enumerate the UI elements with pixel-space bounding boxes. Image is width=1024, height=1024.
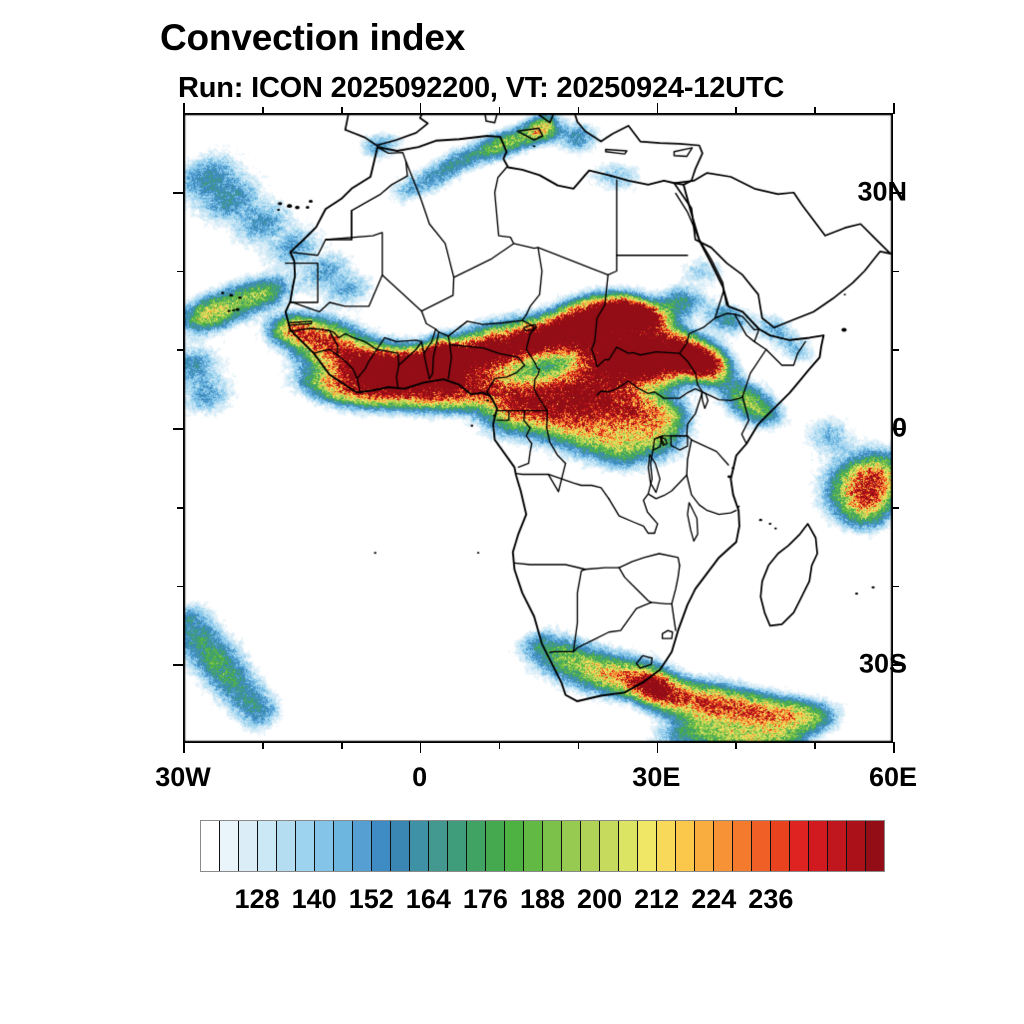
colorbar-cell: [809, 821, 828, 871]
y-axis-minor-tick: [892, 271, 899, 273]
colorbar-cell: [847, 821, 866, 871]
colorbar-tick-label: 224: [691, 884, 736, 915]
y-axis-minor-tick: [892, 507, 899, 509]
x-axis-label: 0: [412, 762, 427, 793]
colorbar-cell: [220, 821, 239, 871]
y-axis-minor-tick: [892, 586, 899, 588]
colorbar-cell: [733, 821, 752, 871]
colorbar-cell: [790, 821, 809, 871]
colorbar-cell: [391, 821, 410, 871]
colorbar-tick-label: 164: [406, 884, 451, 915]
y-axis-minor-tick: [177, 507, 184, 509]
colorbar-cell: [315, 821, 334, 871]
colorbar-cell: [448, 821, 467, 871]
y-axis-major-tick: [173, 664, 184, 666]
x-axis-major-tick: [893, 742, 895, 753]
y-axis-minor-tick: [177, 586, 184, 588]
colorbar-cell: [866, 821, 884, 871]
colorbar-cell: [277, 821, 296, 871]
x-axis-minor-tick: [499, 107, 501, 114]
run-valid-time-subtitle: Run: ICON 2025092200, VT: 20250924-12UTC: [178, 72, 784, 105]
convection-index-field: [184, 114, 892, 742]
colorbar-cell: [676, 821, 695, 871]
colorbar-cell: [752, 821, 771, 871]
y-axis-minor-tick: [177, 271, 184, 273]
x-axis-minor-tick: [341, 742, 343, 749]
colorbar-cell: [239, 821, 258, 871]
y-axis-minor-tick: [177, 349, 184, 351]
y-axis-minor-tick: [892, 349, 899, 351]
x-axis-label: 30W: [155, 762, 211, 793]
colorbar-tick-label: 200: [577, 884, 622, 915]
x-axis-label: 30E: [632, 762, 680, 793]
page-title: Convection index: [160, 17, 465, 59]
colorbar-cell: [657, 821, 676, 871]
colorbar-cell: [619, 821, 638, 871]
x-axis-major-tick: [420, 103, 422, 114]
x-axis-minor-tick: [578, 742, 580, 749]
x-axis-minor-tick: [814, 107, 816, 114]
colorbar-cell: [638, 821, 657, 871]
colorbar-tick-label: 128: [235, 884, 280, 915]
y-axis-label: 30N: [857, 176, 907, 207]
map-plot-frame: [183, 113, 893, 743]
x-axis-major-tick: [657, 103, 659, 114]
colorbar-cell: [486, 821, 505, 871]
colorbar-cell: [258, 821, 277, 871]
y-axis-label: 30S: [859, 649, 907, 680]
colorbar-tick-label: 152: [349, 884, 394, 915]
colorbar-cell: [581, 821, 600, 871]
colorbar-cell: [771, 821, 790, 871]
x-axis-major-tick: [420, 742, 422, 753]
colorbar-cell: [600, 821, 619, 871]
x-axis-label: 60E: [869, 762, 917, 793]
colorbar-cell: [334, 821, 353, 871]
x-axis-major-tick: [657, 742, 659, 753]
x-axis-minor-tick: [814, 742, 816, 749]
x-axis-minor-tick: [735, 107, 737, 114]
colorbar-tick-label: 236: [748, 884, 793, 915]
colorbar: [200, 820, 885, 872]
colorbar-cell: [429, 821, 448, 871]
colorbar-cell: [296, 821, 315, 871]
colorbar-cell: [505, 821, 524, 871]
y-axis-major-tick: [173, 428, 184, 430]
colorbar-cell: [543, 821, 562, 871]
colorbar-cell: [467, 821, 486, 871]
colorbar-cell: [828, 821, 847, 871]
convection-index-map-page: Convection index Run: ICON 2025092200, V…: [0, 0, 1024, 1024]
x-axis-minor-tick: [262, 107, 264, 114]
x-axis-major-tick: [893, 103, 895, 114]
x-axis-minor-tick: [578, 107, 580, 114]
colorbar-tick-label: 188: [520, 884, 565, 915]
y-axis-label: 0: [892, 413, 907, 444]
x-axis-major-tick: [183, 742, 185, 753]
colorbar-gradient: [200, 820, 885, 872]
colorbar-cell: [372, 821, 391, 871]
x-axis-major-tick: [183, 103, 185, 114]
colorbar-cell: [201, 821, 220, 871]
colorbar-tick-label: 176: [463, 884, 508, 915]
x-axis-minor-tick: [262, 742, 264, 749]
colorbar-cell: [353, 821, 372, 871]
x-axis-minor-tick: [499, 742, 501, 749]
colorbar-cell: [524, 821, 543, 871]
y-axis-major-tick: [173, 192, 184, 194]
colorbar-cell: [714, 821, 733, 871]
colorbar-tick-label: 140: [292, 884, 337, 915]
colorbar-cell: [562, 821, 581, 871]
colorbar-tick-label: 212: [634, 884, 679, 915]
colorbar-cell: [410, 821, 429, 871]
colorbar-cell: [695, 821, 714, 871]
x-axis-minor-tick: [341, 107, 343, 114]
x-axis-minor-tick: [735, 742, 737, 749]
